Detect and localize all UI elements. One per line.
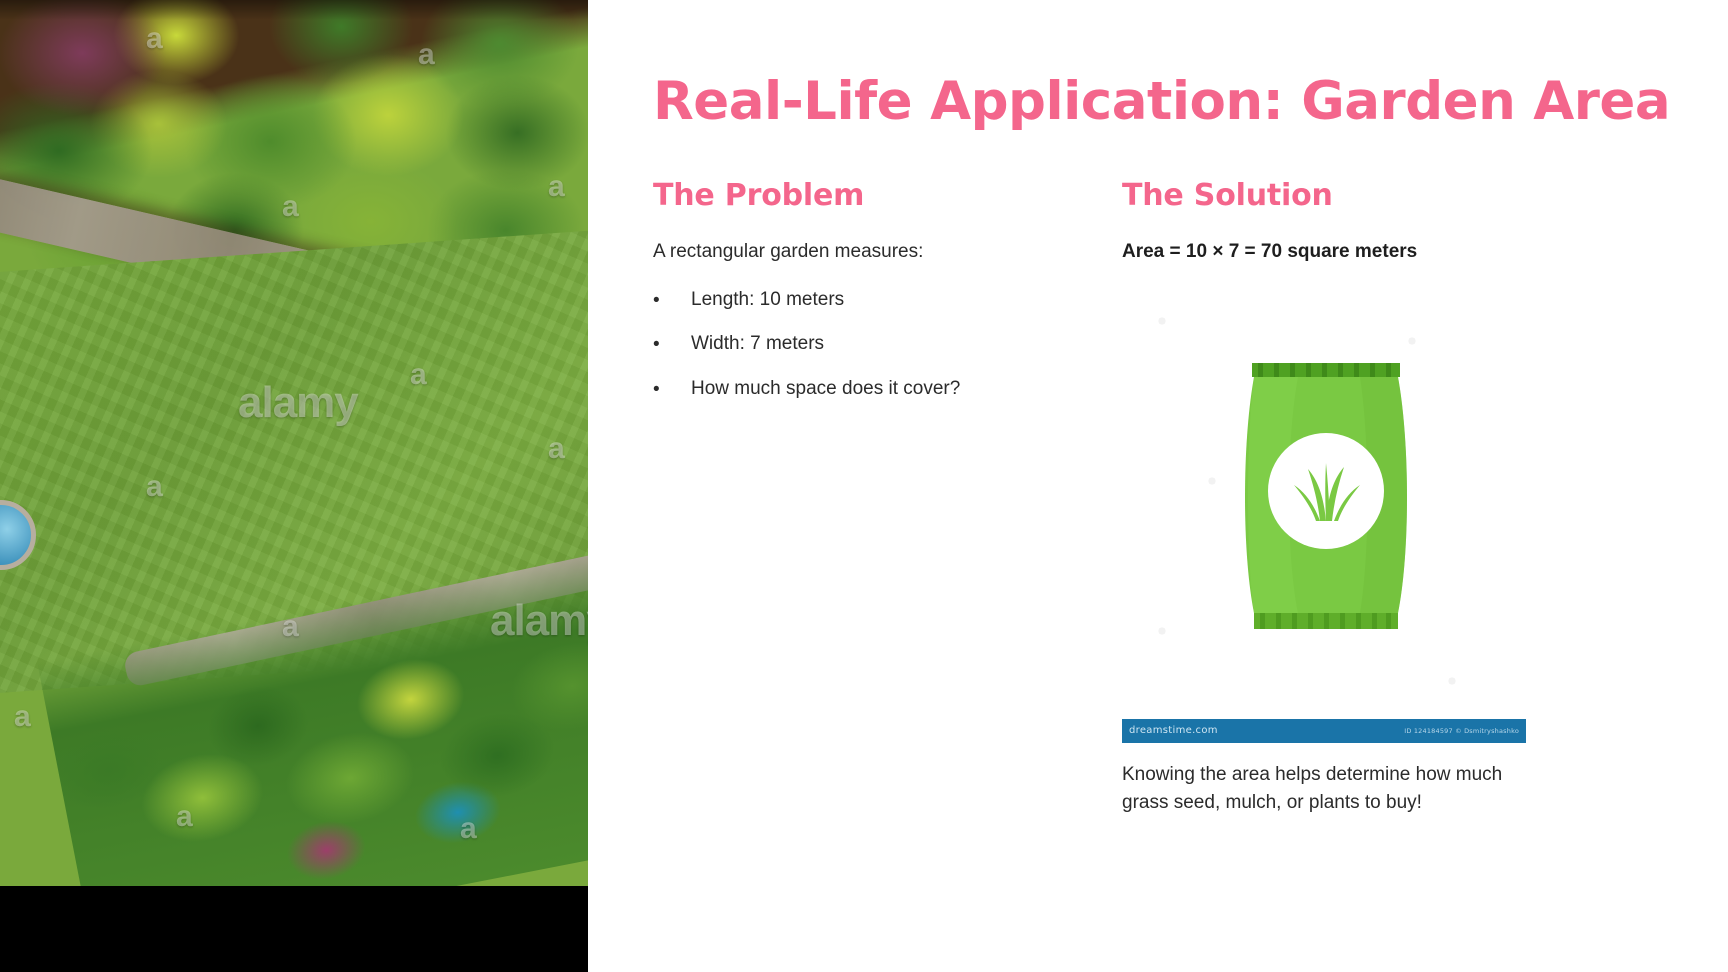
- dreamstime-id-label: ID 124184597 © Dsmitryshashko: [1404, 727, 1519, 735]
- photo-bottom-black-bar: [0, 886, 588, 972]
- list-item: • Length: 10 meters: [653, 287, 1038, 313]
- list-item: • How much space does it cover?: [653, 376, 1038, 402]
- dreamstime-watermark-bar: dreamstime.com ID 124184597 © Dsmitrysha…: [1122, 719, 1526, 743]
- problem-heading: The Problem: [653, 178, 1038, 213]
- area-formula-text: Area = 10 × 7 = 70 square meters: [1122, 239, 1542, 265]
- bullet-marker-icon: •: [653, 332, 660, 358]
- seed-bag-graphic: [1240, 363, 1412, 631]
- grass-seed-bag-illustration: dreamstime.com ID 124184597 © Dsmitrysha…: [1122, 281, 1526, 743]
- list-item-label: How much space does it cover?: [691, 378, 960, 399]
- slide-root: a a a a alamy a a a a alamy a a a Real-L…: [0, 0, 1728, 972]
- bullet-marker-icon: •: [653, 288, 660, 314]
- aerial-garden-photo: a a a a alamy a a a a alamy a a a: [0, 0, 588, 886]
- problem-lead-text: A rectangular garden measures:: [653, 239, 1038, 265]
- solution-column: The Solution Area = 10 × 7 = 70 square m…: [1122, 178, 1542, 818]
- list-item-label: Width: 7 meters: [691, 333, 824, 354]
- solution-caption: Knowing the area helps determine how muc…: [1122, 761, 1522, 818]
- two-column-body: The Problem A rectangular garden measure…: [653, 178, 1663, 818]
- photo-top-shadow: [0, 0, 588, 20]
- list-item-label: Length: 10 meters: [691, 289, 844, 310]
- bullet-marker-icon: •: [653, 377, 660, 403]
- slide-content: Real-Life Application: Garden Area The P…: [588, 0, 1728, 972]
- seed-bag-icon: [1240, 363, 1412, 631]
- problem-bullet-list: • Length: 10 meters • Width: 7 meters • …: [653, 287, 1038, 402]
- problem-column: The Problem A rectangular garden measure…: [653, 178, 1038, 818]
- list-item: • Width: 7 meters: [653, 331, 1038, 357]
- dreamstime-brand-label: dreamstime.com: [1129, 725, 1218, 736]
- garden-photo-panel: a a a a alamy a a a a alamy a a a: [0, 0, 588, 972]
- solution-heading: The Solution: [1122, 178, 1542, 213]
- page-title: Real-Life Application: Garden Area: [653, 72, 1728, 133]
